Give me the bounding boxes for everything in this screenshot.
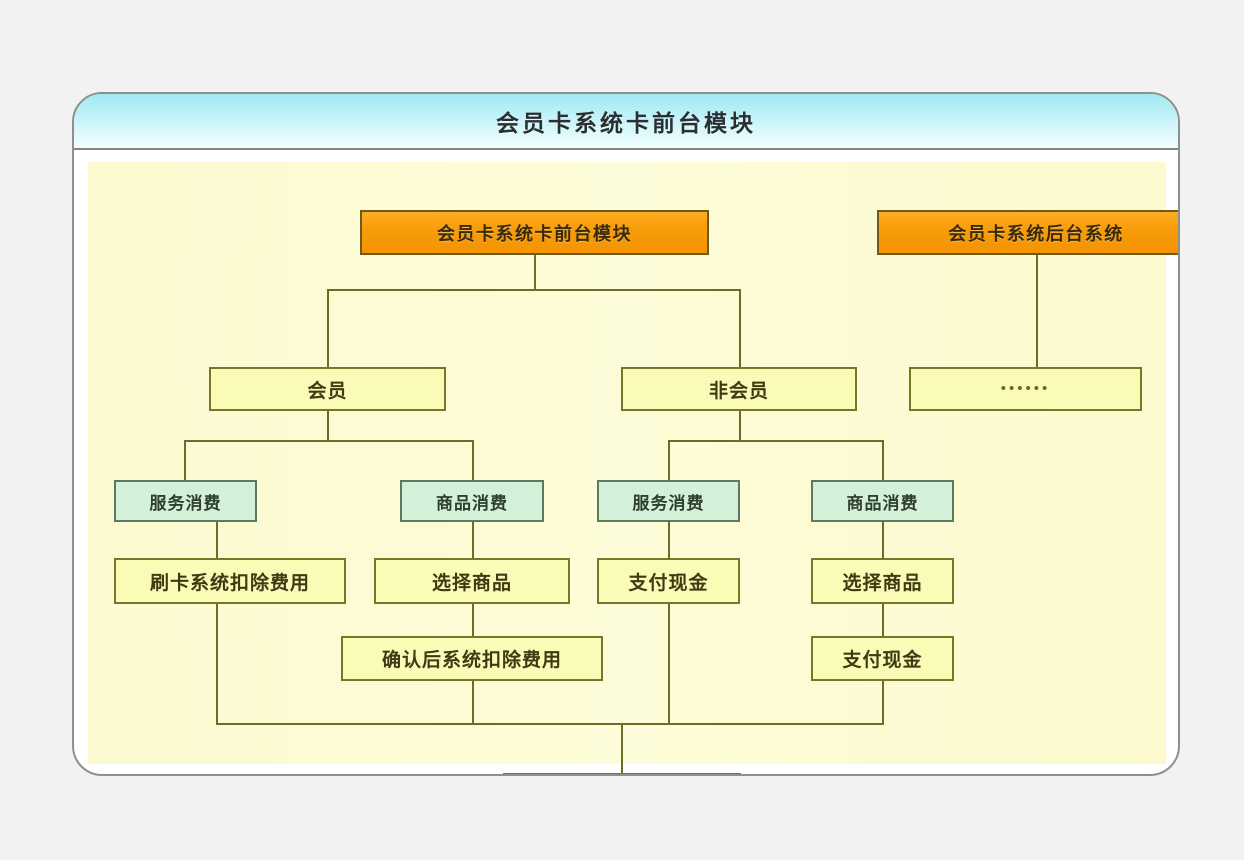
connector-non-member-stem <box>739 411 741 441</box>
connector-to-member <box>327 289 329 367</box>
diagram-canvas: 会员卡系统卡前台模块 会员卡系统后台系统 会员 非会员 •••••• 服务消费 … <box>88 162 1166 764</box>
node-swipe-card-deduct-fee[interactable]: 刷卡系统扣除费用 <box>114 558 346 604</box>
node-member-select-goods[interactable]: 选择商品 <box>374 558 570 604</box>
node-non-member-pay-cash[interactable]: 支付现金 <box>597 558 740 604</box>
node-label: 会员卡系统卡前台模块 <box>437 220 632 246</box>
connector-non-member-to-service <box>668 440 670 480</box>
node-label: 非会员 <box>709 376 769 403</box>
node-coupon[interactable]: 优惠券 <box>503 773 741 776</box>
connector-non-member-split-bar <box>668 440 883 442</box>
node-non-member-goods-consumption[interactable]: 商品消费 <box>811 480 954 522</box>
node-confirm-then-deduct-fee[interactable]: 确认后系统扣除费用 <box>341 636 603 681</box>
connector-select-goods-to-confirm <box>472 604 474 636</box>
node-label: 商品消费 <box>436 489 508 514</box>
node-label: 支付现金 <box>842 645 922 672</box>
connector-member-to-goods <box>472 440 474 480</box>
node-label: 刷卡系统扣除费用 <box>150 568 310 595</box>
node-root-front-office[interactable]: 会员卡系统卡前台模块 <box>360 210 709 255</box>
node-non-member-pay-cash-2[interactable]: 支付现金 <box>811 636 954 681</box>
connector-member-split-bar <box>184 440 473 442</box>
node-label: 商品消费 <box>847 489 919 514</box>
connector-level1-split-bar <box>327 289 741 291</box>
node-member-service-consumption[interactable]: 服务消费 <box>114 480 257 522</box>
node-label: 选择商品 <box>432 568 512 595</box>
connector-select-goods-to-cash <box>882 604 884 636</box>
node-non-member[interactable]: 非会员 <box>621 367 857 411</box>
diagram-window-panel: 会员卡系统卡前台模块 <box>72 92 1180 776</box>
page-title: 会员卡系统卡前台模块 <box>496 104 756 138</box>
connector-member-service-to-action <box>216 522 218 558</box>
connector-collector-to-coupon <box>621 723 623 773</box>
window-title-bar: 会员卡系统卡前台模块 <box>74 94 1178 150</box>
node-label: 确认后系统扣除费用 <box>382 645 562 672</box>
connector-root-back-to-more <box>1036 255 1038 367</box>
connector-drop-non-member-goods <box>882 681 884 724</box>
node-root-back-office[interactable]: 会员卡系统后台系统 <box>877 210 1180 255</box>
node-label: •••••• <box>1001 381 1051 398</box>
node-label: 服务消费 <box>633 489 705 514</box>
connector-to-non-member <box>739 289 741 367</box>
node-member[interactable]: 会员 <box>209 367 446 411</box>
node-label: 服务消费 <box>150 489 222 514</box>
node-backend-more[interactable]: •••••• <box>909 367 1142 411</box>
connector-drop-non-member-service <box>668 604 670 724</box>
connector-drop-member-service <box>216 604 218 724</box>
connector-root-front-stem <box>534 255 536 290</box>
connector-member-goods-to-action <box>472 522 474 558</box>
node-label: 支付现金 <box>628 568 708 595</box>
node-non-member-select-goods[interactable]: 选择商品 <box>811 558 954 604</box>
connector-member-stem <box>327 411 329 441</box>
node-label: 会员卡系统后台系统 <box>948 220 1124 246</box>
connector-non-member-goods-to-action <box>882 522 884 558</box>
connector-non-member-service-to-action <box>668 522 670 558</box>
node-member-goods-consumption[interactable]: 商品消费 <box>400 480 544 522</box>
node-label: 会员 <box>307 376 347 403</box>
connector-coupon-collector-bar <box>216 723 884 725</box>
connector-drop-member-goods <box>472 681 474 724</box>
connector-non-member-to-goods <box>882 440 884 480</box>
node-non-member-service-consumption[interactable]: 服务消费 <box>597 480 740 522</box>
node-label: 选择商品 <box>842 568 922 595</box>
connector-member-to-service <box>184 440 186 480</box>
